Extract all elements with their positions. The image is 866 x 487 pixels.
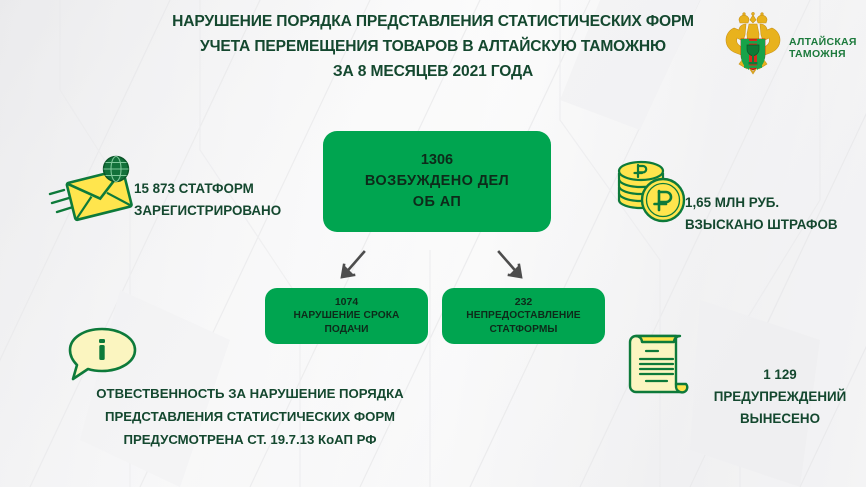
warnings-line-2: ПРЕДУПРЕЖДЕНИЙ <box>696 386 864 408</box>
fines-line-1: 1,65 МЛН РУБ. <box>685 192 838 214</box>
sub-box-non-submission: 232 НЕПРЕДОСТАВЛЕНИЕ СТАТФОРМЫ <box>442 288 605 344</box>
liability-line-2: ПРЕДСТАВЛЕНИЯ СТАТИСТИЧЕСКИХ ФОРМ <box>40 405 460 428</box>
sub-box-right-value: 232 <box>515 295 533 309</box>
main-cases-value: 1306 <box>421 150 453 171</box>
liability-line-3: ПРЕДУСМОТРЕНА СТ. 19.7.13 КоАП РФ <box>40 428 460 451</box>
liability-line-1: ОТВЕСТВЕННОСТЬ ЗА НАРУШЕНИЕ ПОРЯДКА <box>40 382 460 405</box>
title-line-2: УЧЕТА ПЕРЕМЕЩЕНИЯ ТОВАРОВ В АЛТАЙСКУЮ ТА… <box>83 34 783 59</box>
stat-warnings-text: 1 129 ПРЕДУПРЕЖДЕНИЙ ВЫНЕСЕНО <box>696 364 864 430</box>
title-line-1: НАРУШЕНИЕ ПОРЯДКА ПРЕДСТАВЛЕНИЯ СТАТИСТИ… <box>83 9 783 34</box>
stat-registered-forms: 15 873 СТАТФОРМ ЗАРЕГИСТРИРОВАНО <box>48 152 318 238</box>
info-speech-bubble-icon <box>65 326 139 384</box>
main-cases-box: 1306 ВОЗБУЖДЕНО ДЕЛ ОБ АП <box>323 131 551 232</box>
warnings-line-3: ВЫНЕСЕНО <box>696 408 864 430</box>
coins-ruble-icon <box>613 150 691 228</box>
stat-warnings-issued: 1 129 ПРЕДУПРЕЖДЕНИЙ ВЫНЕСЕНО <box>624 324 864 434</box>
registered-forms-line-2: ЗАРЕГИСТРИРОВАНО <box>134 200 281 222</box>
russian-customs-emblem-icon <box>722 12 784 84</box>
logo-text-line-1: АЛТАЙСКАЯ <box>789 36 857 49</box>
main-cases-label-line-1: ВОЗБУЖДЕНО ДЕЛ <box>365 171 509 192</box>
sub-box-left-value: 1074 <box>335 295 358 309</box>
stat-liability-note: ОТВЕСТВЕННОСТЬ ЗА НАРУШЕНИЕ ПОРЯДКА ПРЕД… <box>40 326 460 456</box>
logo-text: АЛТАЙСКАЯ ТАМОЖНЯ <box>789 36 857 61</box>
logo-text-line-2: ТАМОЖНЯ <box>789 48 857 61</box>
main-cases-label-line-2: ОБ АП <box>413 192 461 213</box>
sub-box-right-label-line-1: НЕПРЕДОСТАВЛЕНИЕ <box>466 309 580 323</box>
registered-forms-line-1: 15 873 СТАТФОРМ <box>134 178 281 200</box>
scroll-document-icon <box>624 324 706 400</box>
arrow-down-left-icon <box>330 246 376 288</box>
fines-line-2: ВЗЫСКАНО ШТРАФОВ <box>685 214 838 236</box>
warnings-line-1: 1 129 <box>696 364 864 386</box>
sub-box-right-label-line-2: СТАТФОРМЫ <box>489 323 557 337</box>
title-line-3: ЗА 8 МЕСЯЦЕВ 2021 ГОДА <box>83 59 783 84</box>
logo: АЛТАЙСКАЯ ТАМОЖНЯ <box>722 8 862 88</box>
stat-registered-forms-text: 15 873 СТАТФОРМ ЗАРЕГИСТРИРОВАНО <box>134 178 281 222</box>
sub-box-left-label-line-1: НАРУШЕНИЕ СРОКА <box>293 309 399 323</box>
arrow-down-right-icon <box>487 246 533 288</box>
stat-fines-collected: 1,65 МЛН РУБ. ВЗЫСКАНО ШТРАФОВ <box>613 150 863 242</box>
page-title: НАРУШЕНИЕ ПОРЯДКА ПРЕДСТАВЛЕНИЯ СТАТИСТИ… <box>83 0 783 84</box>
envelope-globe-icon <box>48 154 140 226</box>
stat-fines-text: 1,65 МЛН РУБ. ВЗЫСКАНО ШТРАФОВ <box>685 192 838 236</box>
stat-liability-text: ОТВЕСТВЕННОСТЬ ЗА НАРУШЕНИЕ ПОРЯДКА ПРЕД… <box>40 382 460 451</box>
